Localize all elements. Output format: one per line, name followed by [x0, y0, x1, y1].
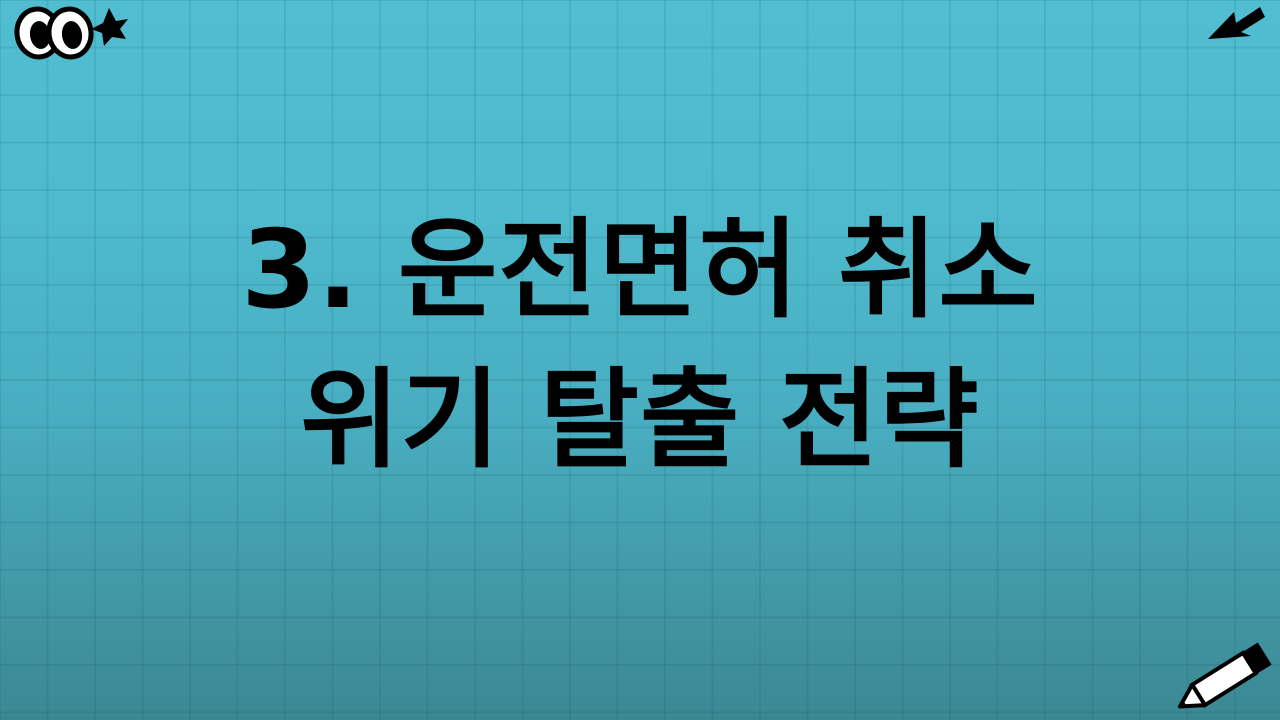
eyes-star-icon	[8, 2, 128, 62]
page-title-line-1: 3. 운전면허 취소	[0, 196, 1280, 346]
pencil-doodle	[1168, 640, 1280, 718]
arrow-down-left-icon	[1205, 4, 1267, 48]
slide-canvas: 3. 운전면허 취소 위기 탈출 전략	[0, 0, 1280, 720]
arrow-doodle	[1205, 4, 1267, 48]
star-icon	[91, 8, 128, 46]
eyes-star-doodle	[8, 2, 128, 62]
page-title-line-2: 위기 탈출 전략	[0, 346, 1280, 496]
pencil-icon	[1168, 640, 1280, 718]
page-title: 3. 운전면허 취소 위기 탈출 전략	[0, 196, 1280, 496]
